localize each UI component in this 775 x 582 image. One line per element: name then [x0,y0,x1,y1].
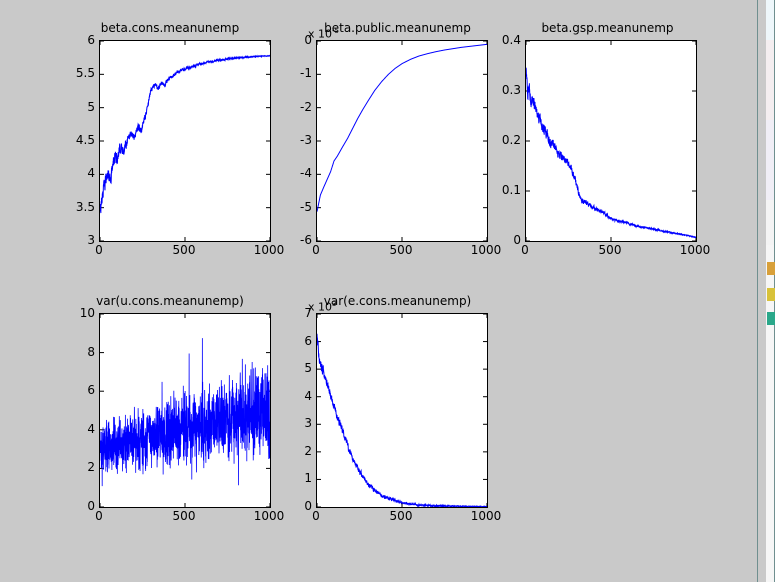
y-axis-tick-label: 0.2 [483,134,521,146]
plot-axes[interactable] [525,40,697,242]
plot-title: beta.gsp.meanunemp [510,22,705,34]
figure-window-border [757,0,758,582]
x-axis-tick-label: 1000 [461,510,511,522]
plot-curve-svg [317,41,487,241]
desktop-icon-2[interactable] [767,288,775,301]
matlab-figure-canvas: beta.cons.meanunemp 33.544.555.560500100… [0,0,757,582]
x-axis-tick-label: 0 [291,244,341,256]
x-axis-tick-label: 0 [500,244,550,256]
plot-panel-beta-gsp-meanunemp: beta.gsp.meanunemp 00.10.20.30.405001000 [495,22,710,287]
data-series-line [317,44,487,211]
plot-axes[interactable] [316,40,488,242]
plot-panel-beta-cons-meanunemp: beta.cons.meanunemp 33.544.555.560500100… [60,22,280,287]
y-axis-tick-label: 0.1 [483,184,521,196]
y-axis-tick-label: 5 [274,362,312,374]
plot-title: var(u.cons.meanunemp) [70,295,270,307]
x-axis-tick-label: 500 [159,510,209,522]
desktop-icon-1[interactable] [767,262,775,275]
exponent-power: -5 [332,27,339,35]
y-axis-tick-label: 3 [274,417,312,429]
y-axis-tick-label: -4 [274,167,312,179]
exponent-power: 3 [332,300,336,308]
y-axis-tick-label: 4 [274,390,312,402]
y-axis-tick-label: 6 [274,335,312,347]
x-axis-tick-label: 0 [291,510,341,522]
y-axis-tick-label: 0 [274,34,312,46]
y-axis-tick-label: 0.3 [483,84,521,96]
x-axis-tick-label: 0 [74,244,124,256]
plot-axes[interactable] [99,40,271,242]
y-axis-tick-label: -1 [274,67,312,79]
x-axis-tick-label: 500 [376,510,426,522]
y-axis-tick-label: 6 [57,384,95,396]
y-axis-tick-label: 4 [57,423,95,435]
plot-axes[interactable] [99,313,271,508]
data-series-line [100,56,270,213]
plot-curve-svg [317,314,487,507]
y-axis-tick-label: 7 [274,307,312,319]
plot-panel-beta-public-meanunemp: beta.public.meanunemp x 10-5 -6-5-4-3-2-… [288,22,503,287]
data-series-line [100,338,270,486]
y-axis-tick-label: 4.5 [57,134,95,146]
data-series-line [526,68,696,238]
plot-panel-var-e-cons-meanunemp: var(e.cons.meanunemp) x 103 012345670500… [288,295,503,555]
background-window-sliver [757,0,775,582]
plot-title: beta.cons.meanunemp [70,22,270,34]
plot-curve-svg [100,41,270,241]
y-axis-tick-label: 10 [57,307,95,319]
plot-curve-svg [526,41,696,241]
y-axis-tick-label: -3 [274,134,312,146]
plot-curve-svg [100,314,270,507]
y-axis-tick-label: 8 [57,346,95,358]
y-axis-exponent-label: x 103 [308,299,336,313]
x-axis-tick-label: 0 [74,510,124,522]
y-axis-tick-label: 2 [57,461,95,473]
plot-panel-var-u-cons-meanunemp: var(u.cons.meanunemp) 024681005001000 [60,295,280,555]
x-axis-tick-label: 500 [159,244,209,256]
y-axis-tick-label: 1 [274,472,312,484]
data-series-line [317,334,487,507]
y-axis-tick-label: 3.5 [57,201,95,213]
desktop-icon-3[interactable] [767,312,775,325]
x-axis-tick-label: 1000 [670,244,720,256]
plot-axes[interactable] [316,313,488,508]
x-axis-tick-label: 500 [585,244,635,256]
y-axis-tick-label: -2 [274,101,312,113]
y-axis-tick-label: 2 [274,445,312,457]
y-axis-tick-label: 4 [57,167,95,179]
y-axis-tick-label: 0.4 [483,34,521,46]
y-axis-exponent-label: x 10-5 [308,26,339,40]
y-axis-tick-label: 5 [57,101,95,113]
x-axis-tick-label: 500 [376,244,426,256]
y-axis-tick-label: 5.5 [57,67,95,79]
y-axis-tick-label: -5 [274,201,312,213]
y-axis-tick-label: 6 [57,34,95,46]
